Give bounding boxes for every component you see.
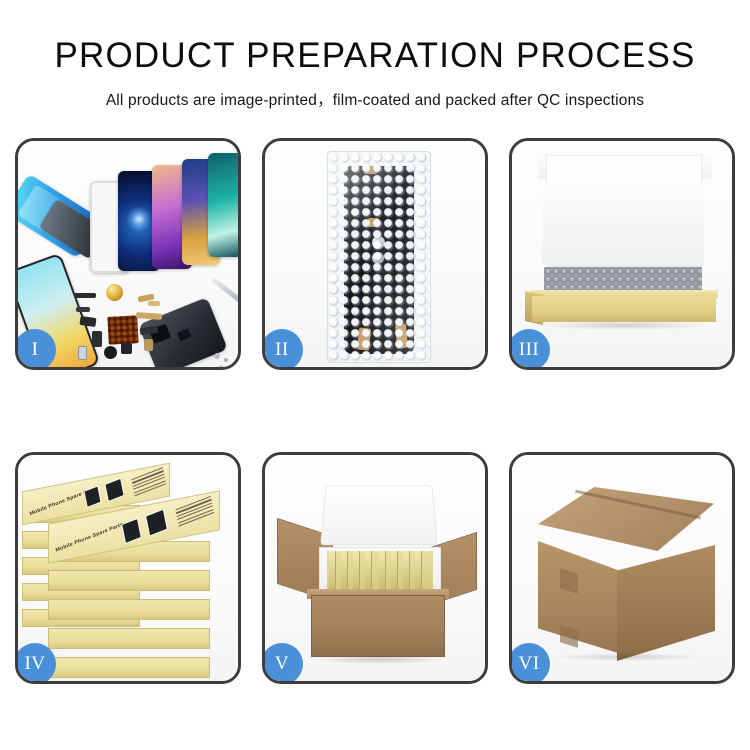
- step-panel-5: V: [262, 452, 488, 684]
- step-panel-2: II: [262, 138, 488, 370]
- bubble-wrap-bag: [327, 151, 431, 363]
- phone-screen-teal: [208, 153, 241, 257]
- step-panel-1: I: [15, 138, 241, 370]
- flex-cable-part: [136, 312, 162, 320]
- step-badge-1: I: [15, 329, 56, 370]
- step-panel-3: III: [509, 138, 735, 370]
- step-badge-4: IV: [15, 643, 56, 684]
- foam-box-lid: [320, 486, 438, 546]
- page-subtitle: All products are image-printed，film-coat…: [0, 88, 750, 110]
- step-badge-2: II: [262, 329, 303, 370]
- step-badge-3: III: [509, 329, 550, 370]
- flex-cable-part: [92, 331, 102, 347]
- carton-left-face: [538, 541, 618, 653]
- step-4-image: Mobile Phone Spare Parts Mobile Phone Sp…: [18, 455, 238, 681]
- packed-kraft-boxes: [327, 551, 433, 589]
- kraft-box-front: [532, 296, 716, 322]
- step-2-image: [265, 141, 485, 367]
- product-preparation-infographic: PRODUCT PREPARATION PROCESS All products…: [0, 0, 750, 750]
- box-label-text: Mobile Phone Spare Parts: [55, 522, 124, 554]
- box-phone-image: [145, 509, 168, 537]
- step-panel-6: VI: [509, 452, 735, 684]
- step-badge-6: VI: [509, 643, 550, 684]
- flex-cable-part: [104, 346, 117, 359]
- drop-shadow: [552, 653, 702, 661]
- step-3-image: [512, 141, 732, 367]
- page-title: PRODUCT PREPARATION PROCESS: [0, 38, 750, 75]
- step-badge-5: V: [262, 643, 303, 684]
- carton-top-face: [538, 487, 714, 551]
- flex-cable-part: [148, 301, 160, 306]
- box-spec-lines: [131, 467, 166, 498]
- carton-right-face: [617, 545, 715, 661]
- screws-component: [214, 353, 220, 359]
- drop-shadow: [538, 321, 710, 330]
- box-phone-image: [121, 518, 142, 544]
- step-5-image: [265, 455, 485, 681]
- process-steps-grid: I II: [15, 138, 735, 684]
- carton-front: [311, 595, 445, 657]
- foam-sheet: [542, 187, 704, 265]
- step-1-image: [18, 141, 238, 367]
- step-panel-4: Mobile Phone Spare Parts Mobile Phone Sp…: [15, 452, 241, 684]
- step-6-image: [512, 455, 732, 681]
- box-spec-lines: [175, 496, 214, 529]
- stacked-box: [48, 628, 210, 649]
- flex-cable-part: [78, 346, 87, 360]
- stacked-box: [48, 570, 210, 591]
- flex-cable-part: [74, 293, 96, 298]
- flex-cable-part: [144, 339, 153, 351]
- flex-cable-part: [76, 307, 90, 312]
- drop-shadow: [315, 655, 443, 664]
- connector-grid-component: [107, 315, 138, 345]
- box-phone-image: [104, 478, 124, 502]
- box-phone-image: [83, 485, 101, 508]
- stacked-box: [48, 657, 210, 678]
- plastic-sheen: [328, 152, 430, 362]
- tweezers-tool: [211, 277, 241, 309]
- stacked-box: [48, 599, 210, 620]
- flex-cable-part: [121, 343, 132, 354]
- speaker-component: [106, 284, 123, 301]
- header: PRODUCT PREPARATION PROCESS All products…: [0, 0, 750, 110]
